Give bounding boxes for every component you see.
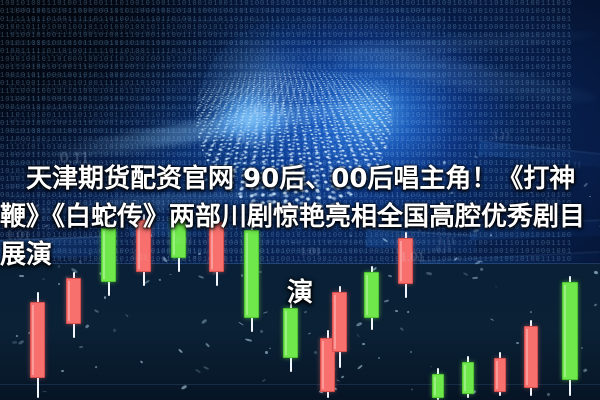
light-speck [265, 351, 268, 354]
candlestick-16-down [524, 320, 538, 396]
candle-body [462, 362, 474, 394]
light-speck [12, 340, 17, 343]
candle-body [494, 358, 506, 392]
candle-body [432, 374, 444, 398]
news-banner-image: 1001010011101001010011101001010011101001… [0, 0, 600, 400]
headline-text: 天津期货配资官网 90后、00后唱主角！《打神 鞭》《白蛇传》两部川剧惊艳亮相全… [0, 160, 600, 312]
candlestick-8-up [283, 302, 298, 372]
candle-body [524, 326, 538, 388]
candlestick-14-up [462, 356, 474, 398]
candlestick-15-down [494, 352, 506, 396]
candle-body [30, 302, 45, 378]
headline-line-2: 鞭》《白蛇传》两部川剧惊艳亮相全国高腔优秀剧目展演 [0, 198, 600, 274]
baseline [0, 384, 600, 385]
light-speck [61, 369, 64, 371]
headline-line-1: 天津期货配资官网 90后、00后唱主角！《打神 [26, 160, 600, 198]
candle-body [283, 308, 298, 358]
light-speck [362, 343, 365, 345]
candlestick-13-up [432, 368, 444, 400]
headline-line-3: 演 [0, 274, 600, 312]
